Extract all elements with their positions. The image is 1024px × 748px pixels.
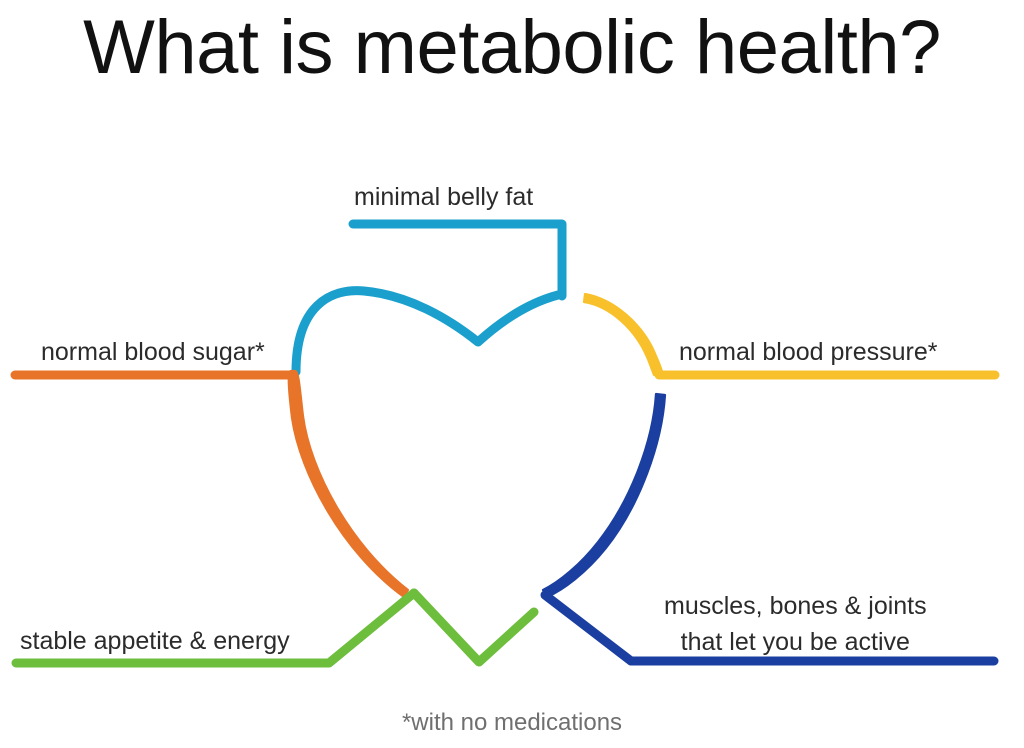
infographic-root: What is metabolic health? [0,0,1024,748]
label-normal-blood-pressure: normal blood pressure* [679,336,937,368]
footnote-with-no-medications: *with no medications [0,708,1024,738]
label-stable-appetite-energy: stable appetite & energy [20,625,290,657]
label-normal-blood-sugar: normal blood sugar* [41,336,265,368]
label-muscles-line-1: muscles, bones & joints [664,592,927,620]
label-muscles-line-2: that let you be active [664,624,927,660]
diagram-labels: minimal belly fat normal blood sugar* no… [0,0,1024,748]
label-muscles-bones-joints: muscles, bones & joints that let you be … [664,588,927,660]
label-minimal-belly-fat: minimal belly fat [354,181,533,213]
